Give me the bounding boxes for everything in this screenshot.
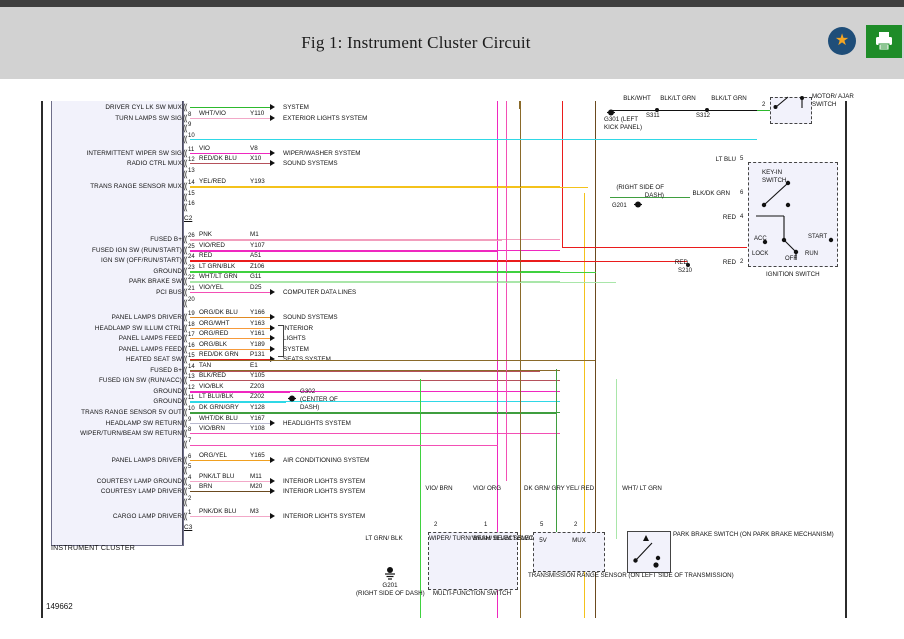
ign-pos-lock: LOCK bbox=[752, 251, 768, 257]
diagram-canvas: 149662 INSTRUMENT CLUSTER DRIVER CYL LK … bbox=[0, 79, 904, 639]
pin-signal-label: TRANS RANGE SENSOR 5V OUT bbox=[55, 409, 182, 416]
mfs-left-pin: 2 bbox=[434, 522, 437, 528]
pin-signal-label: COURTESY LAMP DRIVER bbox=[55, 488, 182, 495]
pin-brace: ⸨ bbox=[183, 256, 188, 264]
destination-arrow-icon bbox=[270, 457, 275, 463]
destination-label: AIR CONDITIONING SYSTEM bbox=[283, 457, 369, 464]
wire-color-label: YEL/RED bbox=[199, 178, 226, 185]
destination-arrow-icon bbox=[270, 488, 275, 494]
destination-label: EXTERIOR LIGHTS SYSTEM bbox=[283, 115, 367, 122]
ign-term-2-pin: 6 bbox=[740, 190, 743, 196]
splice-s312-node bbox=[705, 108, 709, 112]
favorite-button[interactable]: ★ bbox=[828, 27, 856, 55]
pin-brace: ⸨ bbox=[183, 334, 188, 342]
pin-signal-label: WIPER/TURN/BEAM SW RETURN bbox=[55, 430, 182, 437]
connector-group-label: C3 bbox=[184, 524, 192, 531]
pin-brace: ⸨ bbox=[183, 203, 188, 211]
wire-color-label: WHT/LT GRN bbox=[199, 273, 238, 280]
top-wire-2-label: BLK/LT GRN bbox=[658, 95, 698, 103]
pin-signal-label: FUSED IGN SW (RUN/ACC) bbox=[55, 377, 182, 384]
pin-brace: ⸨ bbox=[183, 408, 188, 416]
wire-code-label: Y108 bbox=[250, 425, 265, 432]
print-button[interactable] bbox=[866, 25, 902, 58]
splice-s311-node bbox=[655, 108, 659, 112]
splice-s311-label: S311 bbox=[646, 113, 660, 119]
pin-brace: ⸨ bbox=[183, 366, 188, 374]
pin-brace: ⸨ bbox=[183, 345, 188, 353]
wire-code-label: Y128 bbox=[250, 404, 265, 411]
wire-run bbox=[190, 392, 290, 393]
trs-left-wire: DK GRN/ GRY bbox=[524, 485, 562, 493]
door-ajar-switch-label: MOTOR/ AJAR SWITCH bbox=[812, 93, 860, 109]
wire-run bbox=[190, 107, 272, 108]
ign-term-1-pin: 5 bbox=[740, 156, 743, 162]
pin-signal-label: GROUND bbox=[55, 388, 182, 395]
pin-brace: ⸨ bbox=[183, 193, 188, 201]
wire-trunk bbox=[506, 101, 507, 481]
wire-run bbox=[190, 328, 272, 329]
g301-name: G301 bbox=[604, 116, 619, 123]
wire-color-label: VIO/BRN bbox=[199, 425, 225, 432]
wire-run bbox=[190, 251, 498, 252]
trs-left-pin: 5 bbox=[540, 522, 543, 528]
pin-brace: ⸨ bbox=[183, 419, 188, 427]
destination-label: INTERIOR bbox=[283, 325, 313, 332]
wire-run bbox=[190, 187, 588, 188]
wire-run bbox=[190, 371, 540, 372]
wire-color-label: ORG/BLK bbox=[199, 341, 227, 348]
wire-color-label: ORG/WHT bbox=[199, 320, 229, 327]
pin-brace: ⸨ bbox=[183, 159, 188, 167]
pin-signal-label: PANEL LAMPS DRIVER bbox=[55, 457, 182, 464]
pin-brace: ⸨ bbox=[183, 440, 188, 448]
wire-code-label: M3 bbox=[250, 508, 259, 515]
wire-code-label: Y193 bbox=[250, 178, 265, 185]
wire-run bbox=[190, 413, 556, 414]
pin-brace: ⸨ bbox=[183, 313, 188, 321]
top-strip bbox=[0, 0, 904, 7]
wire-code-label: M11 bbox=[250, 473, 262, 480]
wire-color-label: PNK/DK BLU bbox=[199, 508, 236, 515]
park-brake-contacts bbox=[630, 534, 668, 570]
wire-run bbox=[190, 139, 500, 140]
destination-arrow-icon bbox=[270, 289, 275, 295]
pin-brace: ⸨ bbox=[183, 397, 188, 405]
ign-term-1-wire: LT BLU bbox=[694, 156, 736, 164]
ign-term-2-wire: BLK/DK GRN bbox=[674, 190, 730, 198]
pin-brace: ⸨ bbox=[183, 512, 188, 520]
transmission-range-sensor-title: TRANSMISSION RANGE SENSOR (ON LEFT SIDE … bbox=[528, 572, 610, 580]
wire-run bbox=[190, 402, 286, 403]
door-switch-pin: 2 bbox=[762, 102, 765, 108]
pin-number: 16 bbox=[188, 201, 195, 207]
pin-brace: ⸨ bbox=[183, 387, 188, 395]
wire-code-label: M1 bbox=[250, 231, 259, 238]
wire-color-label: BRN bbox=[199, 483, 212, 490]
wire-color-label: WHT/DK BLU bbox=[199, 415, 238, 422]
pin-signal-label: FUSED B+ bbox=[55, 367, 182, 374]
wire-run bbox=[190, 516, 272, 517]
park-brake-switch-title: PARK BRAKE SWITCH (ON PARK BRAKE MECHANI… bbox=[673, 531, 725, 539]
pin-brace: ⸨ bbox=[183, 355, 188, 363]
wire-code-label: Y107 bbox=[250, 242, 265, 249]
connector-group-label: C2 bbox=[184, 215, 192, 222]
wire-color-label: LT BLU/BLK bbox=[199, 393, 233, 400]
destination-arrow-icon bbox=[270, 420, 275, 426]
wire-code-label: Y161 bbox=[250, 330, 265, 337]
wire-color-label: TAN bbox=[199, 362, 211, 369]
pin-brace: ⸨ bbox=[183, 246, 188, 254]
pin-signal-label: PANEL LAMPS FEED bbox=[55, 335, 182, 342]
bottom-ground-name: G201 bbox=[360, 582, 420, 590]
wire-color-label: RED/DK GRN bbox=[199, 351, 239, 358]
mfs-right-wire: VIO/ ORG bbox=[470, 485, 504, 493]
pin-brace: ⸨ bbox=[183, 466, 188, 474]
park-brake-wire-label: WHT/ LT GRN bbox=[620, 485, 664, 493]
wire-run bbox=[190, 261, 687, 262]
pin-number: 2 bbox=[188, 496, 191, 502]
destination-arrow-icon bbox=[270, 314, 275, 320]
pin-number: 13 bbox=[188, 168, 195, 174]
ign-term-4-pin: 2 bbox=[740, 259, 743, 265]
printer-icon bbox=[873, 30, 895, 52]
wire-run bbox=[190, 338, 272, 339]
ign-pos-start: START bbox=[808, 234, 827, 240]
trs-right-label: MUX bbox=[566, 537, 592, 545]
door-ajar-switch-contact bbox=[772, 94, 810, 110]
wire-run bbox=[562, 247, 747, 248]
pin-brace: ⸨ bbox=[183, 182, 188, 190]
destination-label: COMPUTER DATA LINES bbox=[283, 289, 356, 296]
g201-name-right: G201 bbox=[612, 203, 627, 209]
wire-color-label: BLK/RED bbox=[199, 372, 226, 379]
wire-color-label: ORG/YEL bbox=[199, 452, 227, 459]
wire-code-label: Y110 bbox=[250, 110, 264, 117]
wire-code-label: X10 bbox=[250, 155, 261, 162]
wire-trunk bbox=[562, 101, 563, 247]
wire-code-label: Y163 bbox=[250, 320, 265, 327]
pin-signal-label: IGN SW (OFF/RUN/START) bbox=[55, 257, 182, 264]
wire-color-label: RED/DK BLU bbox=[199, 155, 237, 162]
wire-run bbox=[190, 153, 272, 154]
pin-signal-label: FUSED IGN SW (RUN/START) bbox=[55, 247, 182, 254]
pin-signal-label: PANEL LAMPS DRIVER bbox=[55, 314, 182, 321]
wire-run bbox=[190, 282, 616, 283]
wire-color-label: PNK bbox=[199, 231, 212, 238]
destination-label: SYSTEM bbox=[283, 346, 309, 353]
wire-code-label: E1 bbox=[250, 362, 258, 369]
pin-number: 20 bbox=[188, 297, 195, 303]
destination-arrow-icon bbox=[270, 104, 275, 110]
wire-run bbox=[190, 445, 498, 446]
wire-run bbox=[190, 380, 560, 381]
pin-number: 15 bbox=[188, 191, 195, 197]
pin-signal-label: TURN LAMPS SW SIG bbox=[55, 115, 182, 122]
bottom-ground-wire: LT GRN/ BLK bbox=[364, 535, 404, 543]
g302-ground-symbol bbox=[286, 391, 298, 409]
destination-arrow-icon bbox=[270, 356, 275, 362]
destination-arrow-icon bbox=[270, 150, 275, 156]
bottom-ground-location: (RIGHT SIDE OF DASH) bbox=[356, 590, 424, 598]
trs-right-pin: 2 bbox=[574, 522, 577, 528]
pin-signal-label: HEADLAMP SW ILLUM CTRL bbox=[55, 325, 182, 332]
top-wire-1-label: BLK/WHT bbox=[620, 95, 654, 103]
pin-signal-label: COURTESY LAMP GROUND bbox=[55, 478, 182, 485]
destination-arrow-icon bbox=[270, 335, 275, 341]
destination-label: INTERIOR LIGHTS SYSTEM bbox=[283, 478, 365, 485]
wire-code-label: V8 bbox=[250, 145, 258, 152]
wire-color-label: ORG/DK BLU bbox=[199, 309, 238, 316]
destination-label: INTERIOR LIGHTS SYSTEM bbox=[283, 488, 365, 495]
pin-signal-label: INTERMITTENT WIPER SW SIG bbox=[55, 150, 182, 157]
wire-trunk bbox=[616, 379, 617, 539]
pin-signal-label: GROUND bbox=[55, 398, 182, 405]
wire-run bbox=[190, 460, 272, 461]
ign-pos-run: RUN bbox=[805, 251, 818, 257]
wire-code-label: Y165 bbox=[250, 452, 265, 459]
wire-trunk bbox=[556, 369, 557, 539]
destination-arrow-icon bbox=[270, 160, 275, 166]
wire-run bbox=[190, 118, 272, 119]
wire-color-label: VIO/RED bbox=[199, 242, 225, 249]
wire-color-label: VIO bbox=[199, 145, 210, 152]
wire-trunk bbox=[519, 101, 520, 109]
mfs-left-label: WIPER/ TURN/ BEAM SELECT SWITCH RETURN bbox=[429, 535, 469, 543]
wire-color-label: PNK/LT BLU bbox=[199, 473, 234, 480]
pin-signal-label: CARGO LAMP DRIVER bbox=[55, 513, 182, 520]
trs-right-wire: YEL/ RED bbox=[564, 485, 596, 493]
splice-s210-label: S210 bbox=[678, 268, 692, 274]
document-header: Fig 1: Instrument Cluster Circuit ★ bbox=[0, 7, 904, 79]
splice-s210-node bbox=[686, 263, 690, 267]
wire-trunk bbox=[497, 379, 498, 539]
pin-brace: ⸨ bbox=[183, 170, 188, 178]
wire-run bbox=[497, 139, 757, 140]
g301-ground-label: G301 (LEFT KICK PANEL) bbox=[604, 116, 644, 132]
mfs-right-label: WASH/ BEAM SELECT SWITCH SIGNAL bbox=[472, 535, 514, 543]
wire-code-label: Z106 bbox=[250, 263, 264, 270]
wire-code-label: Y105 bbox=[250, 372, 265, 379]
wire-code-label: A51 bbox=[250, 252, 261, 259]
pin-signal-label: HEATED SEAT SW bbox=[55, 356, 182, 363]
pin-signal-label: DRIVER CYL LK SW MUX bbox=[55, 104, 182, 111]
pin-signal-label: PCI BUS bbox=[55, 289, 182, 296]
wire-code-label: G11 bbox=[250, 273, 261, 280]
pin-signal-label: FUSED B+ bbox=[55, 236, 182, 243]
wire-trunk bbox=[420, 379, 421, 618]
wire-color-label: WHT/VIO bbox=[199, 110, 226, 117]
interior-lights-brace bbox=[278, 325, 284, 357]
ign-pos-off: OFF bbox=[785, 256, 797, 262]
wire-code-label: Y167 bbox=[250, 415, 265, 422]
wire-run bbox=[190, 481, 272, 482]
wire-run bbox=[190, 240, 502, 241]
pin-signal-label: PANEL LAMPS FEED bbox=[55, 346, 182, 353]
wire-run bbox=[190, 163, 272, 164]
ign-pos-acc: ACC bbox=[754, 236, 767, 242]
pin-brace: ⸨ bbox=[183, 288, 188, 296]
destination-arrow-icon bbox=[270, 513, 275, 519]
splice-s312-label: S312 bbox=[696, 113, 710, 119]
wire-code-label: Z203 bbox=[250, 383, 264, 390]
s210-wire-label: RED bbox=[658, 259, 688, 267]
wire-color-label: RED bbox=[199, 252, 212, 259]
ground-bus-wire bbox=[610, 110, 758, 111]
wire-code-label: M20 bbox=[250, 483, 262, 490]
wire-color-label: LT GRN/BLK bbox=[199, 263, 235, 270]
destination-label: HEADLIGHTS SYSTEM bbox=[283, 420, 351, 427]
g302-location: (CENTER OF DASH) bbox=[300, 396, 344, 412]
destination-label: INTERIOR LIGHTS SYSTEM bbox=[283, 513, 365, 520]
pin-brace: ⸨ bbox=[183, 124, 188, 132]
right-border-rule bbox=[845, 101, 847, 618]
wire-color-label: VIO/YEL bbox=[199, 284, 224, 291]
pin-brace: ⸨ bbox=[183, 135, 188, 143]
left-border-rule bbox=[41, 101, 43, 618]
pin-number: 7 bbox=[188, 438, 191, 444]
wire-run bbox=[190, 292, 272, 293]
wire-run bbox=[190, 491, 272, 492]
multi-function-switch-title: MULTI-FUNCTION SWITCH bbox=[430, 590, 514, 598]
trs-left-label: 5V bbox=[532, 537, 554, 545]
wire-color-label: VIO/BLK bbox=[199, 383, 224, 390]
top-wire-3-label: BLK/LT GRN bbox=[708, 95, 750, 103]
g201-ground-symbol bbox=[632, 197, 644, 215]
pin-brace: ⸨ bbox=[183, 456, 188, 464]
ign-term-3-pin: 4 bbox=[740, 214, 743, 220]
page-title: Fig 1: Instrument Cluster Circuit bbox=[0, 33, 832, 53]
pin-brace: ⸨ bbox=[183, 487, 188, 495]
pin-brace: ⸨ bbox=[183, 429, 188, 437]
destination-label: LIGHTS bbox=[283, 335, 306, 342]
wire-run bbox=[190, 272, 596, 273]
pin-signal-label: HEADLAMP SW RETURN bbox=[55, 420, 182, 427]
g302-name: G302 bbox=[300, 388, 315, 396]
destination-label: SOUND SYSTEMS bbox=[283, 160, 338, 167]
mfs-left-wire: VIO/ BRN bbox=[422, 485, 456, 493]
wire-run bbox=[190, 349, 272, 350]
destination-arrow-icon bbox=[270, 478, 275, 484]
pin-brace: ⸨ bbox=[183, 267, 188, 275]
wire-code-label: Z202 bbox=[250, 393, 264, 400]
pin-brace: ⸨ bbox=[183, 324, 188, 332]
pin-brace: ⸨ bbox=[183, 299, 188, 307]
wire-color-label: DK GRN/GRY bbox=[199, 404, 239, 411]
page-root: Fig 1: Instrument Cluster Circuit ★ 1496… bbox=[0, 0, 904, 639]
wire-color-label: ORG/RED bbox=[199, 330, 228, 337]
pin-brace: ⸨ bbox=[183, 498, 188, 506]
pin-brace: ⸨ bbox=[183, 277, 188, 285]
figure-number: 149662 bbox=[46, 602, 73, 611]
mfs-right-pin: 1 bbox=[484, 522, 487, 528]
destination-label: SYSTEM bbox=[283, 104, 309, 111]
pin-brace: ⸨ bbox=[183, 376, 188, 384]
pin-number: 5 bbox=[188, 464, 191, 470]
wire-run bbox=[190, 423, 272, 424]
pin-signal-label: RADIO CTRL MUX bbox=[55, 160, 182, 167]
wire-code-label: Y166 bbox=[250, 309, 265, 316]
wire-run bbox=[190, 433, 560, 434]
ign-term-4-wire: RED bbox=[694, 259, 736, 267]
ign-term-3-wire: RED bbox=[694, 214, 736, 222]
star-icon: ★ bbox=[835, 33, 849, 49]
pin-signal-label: TRANS RANGE SENSOR MUX bbox=[55, 183, 182, 190]
ignition-switch-title: IGNITION SWITCH bbox=[766, 271, 820, 279]
pin-brace: ⸨ bbox=[183, 235, 188, 243]
wire-run bbox=[190, 317, 272, 318]
pin-brace: ⸨ bbox=[183, 103, 188, 111]
pin-signal-label: PARK BRAKE SW bbox=[55, 278, 182, 285]
destination-arrow-icon bbox=[270, 325, 275, 331]
pin-signal-label: GROUND bbox=[55, 268, 182, 275]
wire-code-label: Y189 bbox=[250, 341, 265, 348]
destination-arrow-icon bbox=[270, 115, 275, 121]
pin-number: 9 bbox=[188, 122, 191, 128]
pin-brace: ⸨ bbox=[183, 114, 188, 122]
destination-label: WIPER/WASHER SYSTEM bbox=[283, 150, 360, 157]
pin-brace: ⸨ bbox=[183, 149, 188, 157]
destination-arrow-icon bbox=[270, 346, 275, 352]
wire-run bbox=[190, 360, 595, 361]
destination-label: SOUND SYSTEMS bbox=[283, 314, 338, 321]
wire-code-label: P131 bbox=[250, 351, 265, 358]
key-in-switch-contacts bbox=[755, 171, 805, 213]
instrument-cluster-label: INSTRUMENT CLUSTER bbox=[51, 545, 135, 552]
pin-brace: ⸨ bbox=[183, 477, 188, 485]
wire-code-label: D25 bbox=[250, 284, 262, 291]
